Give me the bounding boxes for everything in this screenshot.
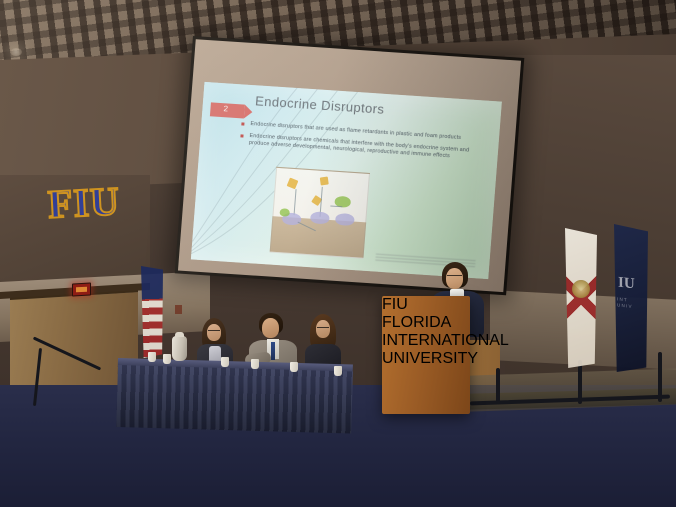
arrow-icon (330, 205, 342, 207)
slide-bullet-list: Endocrine disruptors that are used as fl… (239, 120, 491, 167)
exit-sign (72, 283, 91, 297)
drinking-cup (163, 354, 171, 364)
water-pitcher (172, 336, 187, 361)
slide-number-tab: 2 (210, 102, 245, 118)
presentation-slide: 2 Endocrine Disruptors Endocrine disrupt… (191, 82, 502, 279)
podium-fiu-sign: FIU FLORIDA INTERNATIONAL UNIVERSITY (382, 296, 470, 368)
glasses-icon (447, 275, 462, 279)
lectern-top (378, 289, 474, 298)
university-flag-logo: IU (618, 275, 644, 296)
glasses-icon (208, 330, 220, 334)
podium-line-1: FLORIDA (382, 314, 470, 332)
receptor-icon (335, 213, 355, 226)
ceiling-light (10, 48, 22, 56)
arrow-icon (298, 222, 316, 232)
podium-logo-text: FIU (382, 296, 470, 314)
drinking-cup (251, 359, 259, 369)
podium-line-2: INTERNATIONAL (382, 332, 470, 350)
molecule-icon (320, 176, 329, 185)
wall-outlet (175, 305, 182, 314)
handrail (658, 352, 662, 402)
handrail (496, 368, 500, 404)
projection-screen: 2 Endocrine Disruptors Endocrine disrupt… (175, 36, 525, 295)
receptor-icon (310, 211, 330, 224)
podium-line-3: UNIVERSITY (382, 350, 470, 368)
molecule-icon (287, 178, 299, 190)
glasses-icon (317, 327, 329, 331)
arrow-icon (294, 189, 297, 215)
panel-table-skirt (116, 365, 353, 434)
florida-flag (565, 228, 597, 368)
auditorium-photo: FIU 2 Endocrine Disruptors Endocrine dis… (0, 0, 676, 507)
head (262, 318, 279, 338)
slide-title: Endocrine Disruptors (255, 93, 385, 117)
ligand-icon (279, 208, 290, 217)
handrail (578, 360, 582, 404)
drinking-cup (290, 362, 298, 372)
screen-surface: 2 Endocrine Disruptors Endocrine disrupt… (178, 39, 521, 292)
slide-number: 2 (223, 104, 228, 113)
endocrine-receptor-diagram (270, 167, 370, 259)
drinking-cup (148, 352, 156, 362)
fiu-wall-logo: FIU (37, 178, 131, 229)
necktie (271, 342, 275, 360)
drinking-cup (334, 366, 342, 376)
american-flag (141, 266, 163, 358)
drinking-cup (221, 357, 229, 367)
florida-flag-seal (572, 280, 590, 298)
lectern: FIU FLORIDA INTERNATIONAL UNIVERSITY (382, 296, 470, 414)
